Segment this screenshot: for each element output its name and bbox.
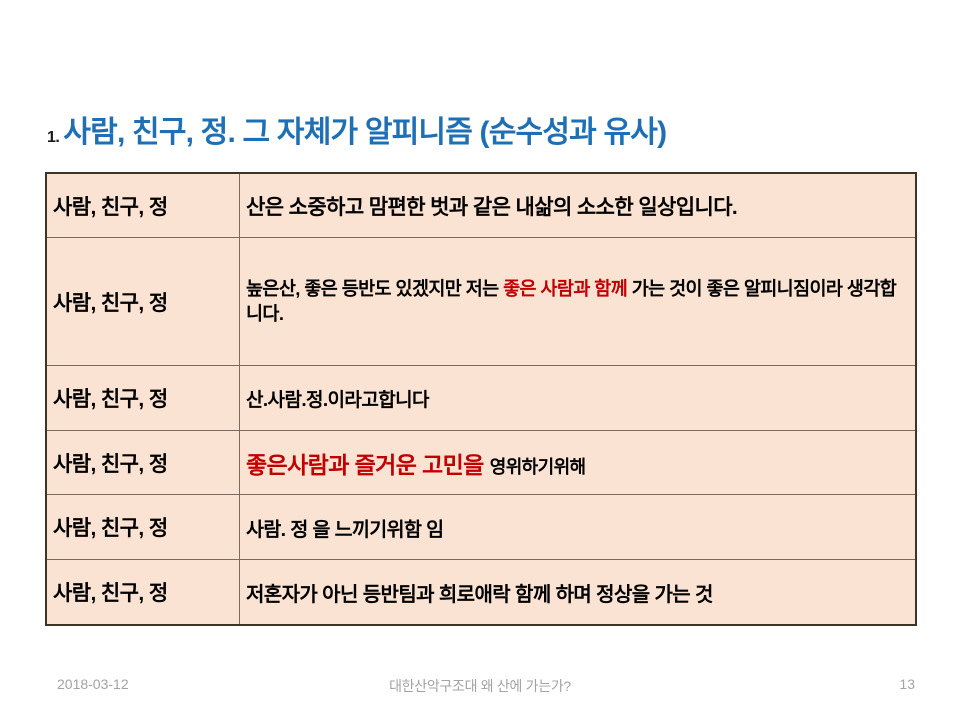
table-row: 사람, 친구, 정 사람. 정 을 느끼기위함 임 (46, 495, 916, 560)
table-body: 사람, 친구, 정 산은 소중하고 맘편한 벗과 같은 내삶의 소소한 일상입니… (46, 173, 916, 625)
table-row: 사람, 친구, 정 산.사람.정.이라고합니다 (46, 366, 916, 431)
row-label-cell: 사람, 친구, 정 (46, 431, 240, 495)
slide-footer: 2018-03-12 대한산악구조대 왜 산에 가는가? 13 (0, 676, 960, 702)
row-content-cell: 좋은사람과 즐거운 고민을영위하기위해 (240, 431, 917, 495)
row-label-cell: 사람, 친구, 정 (46, 495, 240, 560)
row-label-cell: 사람, 친구, 정 (46, 238, 240, 366)
content-table: 사람, 친구, 정 산은 소중하고 맘편한 벗과 같은 내삶의 소소한 일상입니… (45, 172, 917, 626)
row-text-highlight: 좋은 사람과 함께 (503, 278, 627, 299)
footer-page-number: 13 (899, 676, 915, 692)
row-text: 사람. 정 을 느끼기위함 임 (246, 519, 444, 541)
row-label-cell: 사람, 친구, 정 (46, 366, 240, 431)
row-text-after: 영위하기위해 (490, 457, 586, 477)
table-row: 사람, 친구, 정 산은 소중하고 맘편한 벗과 같은 내삶의 소소한 일상입니… (46, 173, 916, 238)
row-label-cell: 사람, 친구, 정 (46, 560, 240, 626)
row-label-cell: 사람, 친구, 정 (46, 173, 240, 238)
row-text: 저혼자가 아닌 등반팀과 희로애락 함께 하며 정상을 가는 것 (246, 584, 713, 606)
title-text: 사람, 친구, 정. 그 자체가 알피니즘 (순수성과 유사) (63, 118, 666, 148)
row-content-cell: 산은 소중하고 맘편한 벗과 같은 내삶의 소소한 일상입니다. (240, 173, 917, 238)
row-content-cell: 저혼자가 아닌 등반팀과 희로애락 함께 하며 정상을 가는 것 (240, 560, 917, 626)
table-row: 사람, 친구, 정 좋은사람과 즐거운 고민을영위하기위해 (46, 431, 916, 495)
title-number: 1. (47, 129, 59, 147)
slide-canvas: 1. 사람, 친구, 정. 그 자체가 알피니즘 (순수성과 유사) 사람, 친… (0, 0, 960, 720)
row-content-cell: 사람. 정 을 느끼기위함 임 (240, 495, 917, 560)
page-title: 1. 사람, 친구, 정. 그 자체가 알피니즘 (순수성과 유사) (47, 118, 917, 164)
table-row: 사람, 친구, 정 높은산, 좋은 등반도 있겠지만 저는 좋은 사람과 함께 … (46, 238, 916, 366)
row-text-highlight: 좋은사람과 즐거운 고민을 (246, 452, 484, 478)
table-row: 사람, 친구, 정 저혼자가 아닌 등반팀과 희로애락 함께 하며 정상을 가는… (46, 560, 916, 626)
row-text: 산은 소중하고 맘편한 벗과 같은 내삶의 소소한 일상입니다. (246, 196, 737, 219)
footer-title: 대한산악구조대 왜 산에 가는가? (0, 676, 960, 696)
row-text-before: 높은산, 좋은 등반도 있겠지만 저는 (246, 278, 503, 299)
row-text: 산.사람.정.이라고합니다 (246, 390, 429, 411)
row-content-cell: 산.사람.정.이라고합니다 (240, 366, 917, 431)
row-content-cell: 높은산, 좋은 등반도 있겠지만 저는 좋은 사람과 함께 가는 것이 좋은 알… (240, 238, 917, 366)
